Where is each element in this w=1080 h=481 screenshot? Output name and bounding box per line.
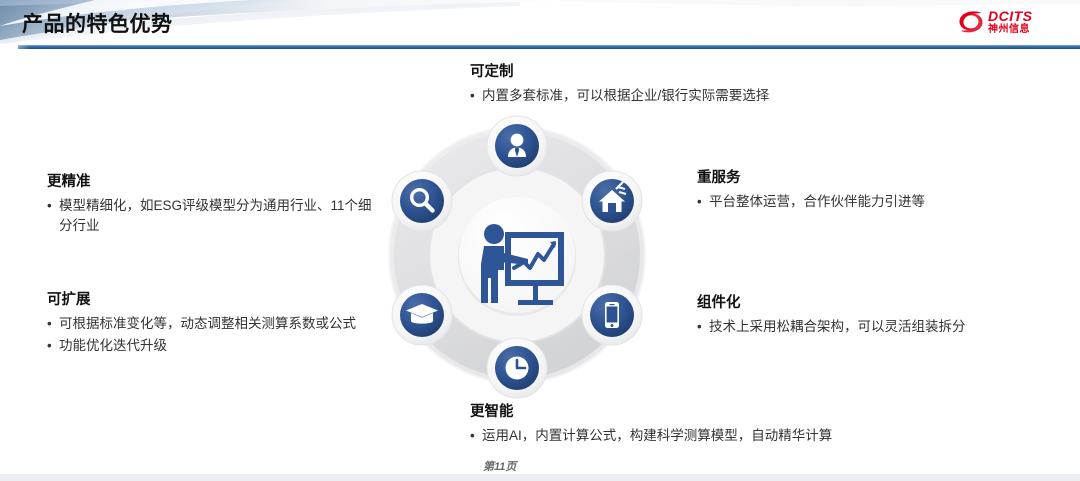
clock-icon — [506, 357, 529, 380]
feature-bullet-text: 模型精细化，如ESG评级模型分为通用行业、11个细分行业 — [59, 196, 377, 237]
page-title: 产品的特色优势 — [22, 8, 173, 38]
header-divider-rule — [18, 45, 1080, 49]
swoosh-icon — [958, 10, 984, 34]
feature-bullet: • 可根据标准变化等，动态调整相关测算系数或公式 — [47, 314, 377, 334]
node-clock[interactable] — [487, 338, 547, 398]
slide-header: 产品的特色优势 DCITS 神州信息 — [0, 0, 1080, 46]
mobile-phone-icon — [605, 302, 619, 328]
feature-bullet-text: 功能优化迭代升级 — [59, 336, 377, 356]
bullet-dot-icon: • — [697, 192, 709, 212]
node-smart-home[interactable] — [582, 171, 642, 231]
bullet-dot-icon: • — [47, 196, 59, 237]
feature-title: 更精准 — [47, 170, 377, 191]
feature-bullet: • 内置多套标准，可以根据企业/银行实际需要选择 — [470, 86, 890, 106]
bullet-dot-icon: • — [470, 426, 482, 446]
bullet-dot-icon: • — [697, 317, 709, 337]
feature-title: 可扩展 — [47, 288, 377, 309]
feature-block-service: 重服务 • 平台整体运营，合作伙伴能力引进等 — [697, 166, 1017, 214]
node-education[interactable] — [392, 285, 452, 345]
bullet-dot-icon: • — [47, 314, 59, 334]
feature-bullet: • 模型精细化，如ESG评级模型分为通用行业、11个细分行业 — [47, 196, 377, 237]
feature-title: 可定制 — [470, 60, 890, 81]
bottom-strip — [0, 474, 1080, 481]
feature-bullet-text: 内置多套标准，可以根据企业/银行实际需要选择 — [482, 86, 890, 106]
feature-bullet-text: 平台整体运营，合作伙伴能力引进等 — [709, 192, 1017, 212]
node-user[interactable] — [487, 116, 547, 176]
node-mobile[interactable] — [582, 285, 642, 345]
feature-bullet: • 功能优化迭代升级 — [47, 336, 377, 356]
feature-block-intelligent: 更智能 • 运用AI，内置计算公式，构建科学测算模型，自动精华计算 — [470, 400, 940, 448]
feature-bullet-text: 可根据标准变化等，动态调整相关测算系数或公式 — [59, 314, 377, 334]
hexagon-feature-diagram — [372, 110, 662, 400]
slide-canvas: 产品的特色优势 DCITS 神州信息 可定制 • 内置多套标准，可以根据企业/银… — [0, 0, 1080, 481]
feature-bullet-text: 运用AI，内置计算公式，构建科学测算模型，自动精华计算 — [482, 426, 940, 446]
feature-block-componentized: 组件化 • 技术上采用松耦合架构，可以灵活组装拆分 — [697, 291, 1017, 339]
feature-block-accurate: 更精准 • 模型精细化，如ESG评级模型分为通用行业、11个细分行业 — [47, 170, 377, 239]
feature-title: 重服务 — [697, 166, 1017, 187]
bullet-dot-icon: • — [47, 336, 59, 356]
logo-wordmark: DCITS — [988, 9, 1033, 23]
page-number-label: 第11页 — [483, 458, 516, 474]
company-logo: DCITS 神州信息 — [958, 5, 1066, 39]
feature-title: 更智能 — [470, 400, 940, 421]
feature-block-extensible: 可扩展 • 可根据标准变化等，动态调整相关测算系数或公式 • 功能优化迭代升级 — [47, 288, 377, 359]
feature-bullet: • 平台整体运营，合作伙伴能力引进等 — [697, 192, 1017, 212]
logo-text: DCITS 神州信息 — [988, 9, 1033, 35]
bullet-dot-icon: • — [470, 86, 482, 106]
feature-bullet: • 运用AI，内置计算公式，构建科学测算模型，自动精华计算 — [470, 426, 940, 446]
feature-bullet-text: 技术上采用松耦合架构，可以灵活组装拆分 — [709, 317, 1017, 337]
feature-bullet: • 技术上采用松耦合架构，可以灵活组装拆分 — [697, 317, 1017, 337]
node-search[interactable] — [392, 171, 452, 231]
feature-title: 组件化 — [697, 291, 1017, 312]
feature-block-customizable: 可定制 • 内置多套标准，可以根据企业/银行实际需要选择 — [470, 60, 890, 108]
logo-subwordmark: 神州信息 — [988, 25, 1033, 35]
